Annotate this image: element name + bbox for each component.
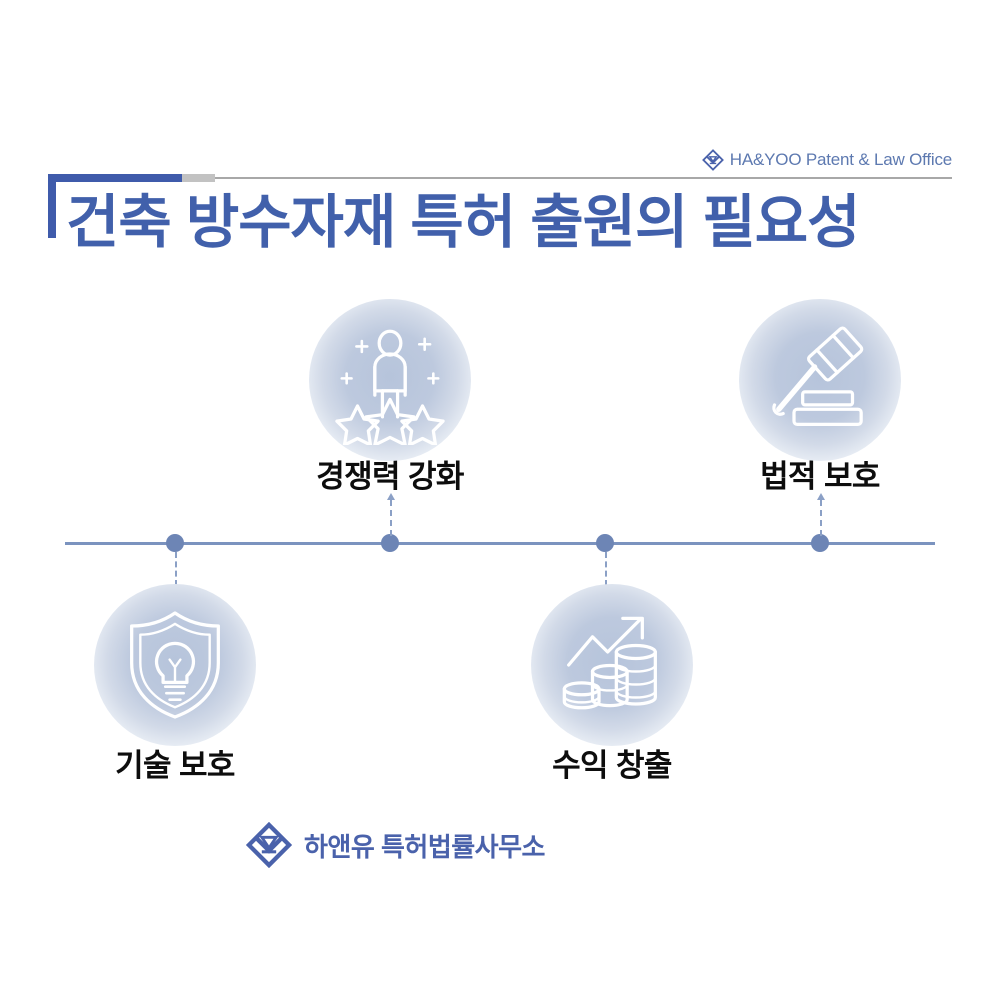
shield-lightbulb-icon (110, 600, 240, 730)
node-label-revenue-generation: 수익 창출 (482, 740, 742, 785)
coins-growth-arrow-icon (547, 600, 677, 730)
connector-competitiveness (390, 500, 392, 536)
timeline-dot-3 (596, 534, 614, 552)
footer-brand-text: 하앤유 특허법률사무소 (304, 827, 545, 864)
node-tech-protection[interactable]: 기술 보호 (45, 600, 305, 785)
person-stars-icon (325, 315, 455, 445)
title-bracket-vertical (48, 174, 56, 238)
timeline-dot-1 (166, 534, 184, 552)
gavel-icon (755, 315, 885, 445)
rule-thin-line (215, 177, 952, 179)
footer-brand: 하앤유 특허법률사무소 (246, 822, 545, 868)
page-title: 건축 방수자재 특허 출원의 필요성 (66, 190, 966, 257)
timeline-dot-4 (811, 534, 829, 552)
header-rule (48, 174, 952, 182)
rule-accent-segment (48, 174, 182, 182)
hayoo-diamond-logo-icon (702, 149, 724, 171)
timeline-axis (65, 542, 935, 545)
node-legal-protection[interactable]: 법적 보호 (690, 315, 950, 496)
timeline-dot-2 (381, 534, 399, 552)
connector-revenue-generation (605, 552, 607, 586)
node-competitiveness[interactable]: 경쟁력 강화 (260, 315, 520, 496)
header-brand-text: HA&YOO Patent & Law Office (730, 150, 952, 170)
connector-tech-protection (175, 552, 177, 586)
node-revenue-generation[interactable]: 수익 창출 (482, 600, 742, 785)
header-brand: HA&YOO Patent & Law Office (702, 148, 952, 172)
hayoo-diamond-logo-icon (246, 822, 292, 868)
connector-legal-protection (820, 500, 822, 536)
slide-canvas: HA&YOO Patent & Law Office 건축 방수자재 특허 출원… (0, 0, 1000, 1000)
node-label-tech-protection: 기술 보호 (45, 740, 305, 785)
rule-gray-segment (182, 174, 215, 182)
